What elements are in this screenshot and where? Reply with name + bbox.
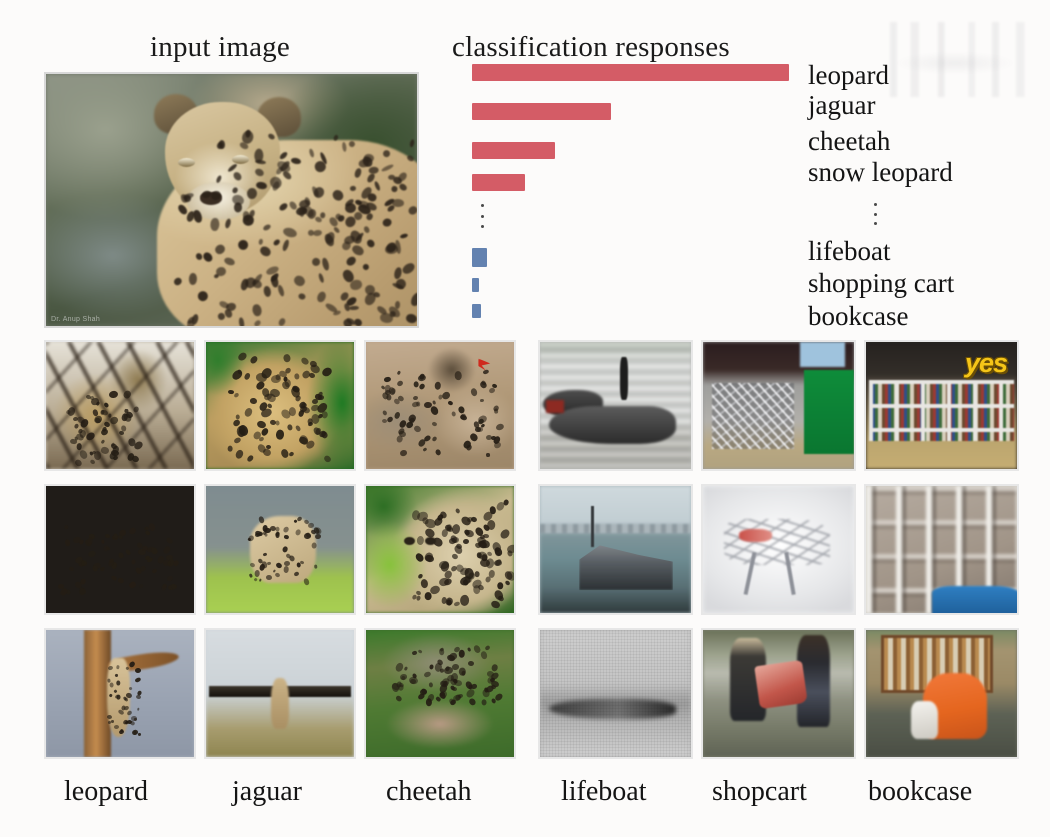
class-label-bookcase: bookcase	[808, 303, 908, 330]
caption-leopard: leopard	[64, 778, 148, 806]
bookshelf-grid	[869, 380, 1014, 441]
grid-cell-left-r1c1	[204, 484, 356, 615]
classification-responses-title: classification responses	[452, 33, 730, 62]
bar-snow-leopard	[472, 174, 525, 191]
class-label-cheetah: cheetah	[808, 128, 890, 155]
figure-root: input image classification responses Dr.…	[0, 0, 1050, 837]
spot-pattern	[46, 486, 194, 613]
white-bag	[911, 701, 938, 739]
grid-cell-right-r0c0	[538, 340, 693, 471]
grid-cell-right-r1c0	[538, 484, 693, 615]
grid-cell-left-r2c0	[44, 628, 196, 759]
bar-bookcase	[472, 304, 481, 318]
input-image-title: input image	[150, 33, 290, 62]
bar-lifeboat	[472, 248, 487, 267]
grid-cell-left-r2c1	[204, 628, 356, 759]
chart-ellipsis-icon	[480, 204, 484, 228]
red-shopping-cart	[755, 660, 809, 709]
spot-pattern	[366, 486, 514, 613]
red-vehicle	[546, 400, 564, 413]
grid-cell-left-r1c2	[364, 484, 516, 615]
spot-pattern	[206, 342, 354, 469]
grid-cell-right-r0c1	[701, 340, 856, 471]
boat-mast	[591, 506, 594, 547]
leopard-on-branch	[271, 678, 289, 729]
yes-overlay-text: yes	[965, 348, 1007, 379]
caption-cheetah: cheetah	[386, 778, 472, 806]
tangled-carts	[712, 383, 794, 449]
class-label-lifeboat: lifeboat	[808, 238, 890, 265]
distant-shoreline	[540, 524, 691, 533]
photo-credit: Dr. Anup Shah	[51, 316, 100, 323]
input-image-photo: Dr. Anup Shah	[44, 72, 419, 328]
grid-cell-left-r0c1	[204, 340, 356, 471]
grid-cell-left-r2c2	[364, 628, 516, 759]
cheetah-eye-right	[425, 537, 436, 545]
class-label-jaguar: jaguar	[808, 92, 875, 119]
sky-patch	[800, 342, 845, 367]
film-grain	[540, 630, 691, 757]
class-label-leopard: leopard	[808, 62, 889, 89]
grid-cell-right-r2c0	[538, 628, 693, 759]
spot-pattern	[46, 342, 194, 469]
blue-sofa	[932, 586, 1019, 615]
grid-cell-right-r0c2: yes	[864, 340, 1019, 471]
cart-red-handle	[739, 529, 772, 542]
green-container	[804, 370, 854, 454]
grid-cell-right-r1c1	[701, 484, 856, 615]
caption-lifeboat: lifeboat	[561, 778, 647, 806]
grid-cell-left-r0c2	[364, 340, 516, 471]
shopping-cart-frame	[724, 519, 830, 565]
bar-shopping-cart	[472, 278, 479, 292]
lifeboat-hull	[549, 406, 676, 444]
class-label-snow-leopard: snow leopard	[808, 159, 953, 186]
spot-pattern	[366, 342, 514, 469]
grid-cell-right-r1c2	[864, 484, 1019, 615]
spot-pattern	[206, 486, 354, 613]
spot-pattern	[366, 630, 514, 757]
class-label-shopping-cart: shopping cart	[808, 270, 954, 297]
caption-shopcart: shopcart	[712, 778, 807, 806]
caption-bookcase: bookcase	[868, 778, 972, 806]
classification-bar-chart	[472, 64, 802, 314]
grid-cell-left-r0c0	[44, 340, 196, 471]
watermark-decoration-2	[895, 52, 1015, 74]
caption-jaguar: jaguar	[232, 778, 302, 806]
bar-cheetah	[472, 142, 555, 159]
bar-leopard	[472, 64, 789, 81]
bar-jaguar	[472, 103, 611, 120]
grid-cell-right-r2c2	[864, 628, 1019, 759]
grid-cell-left-r1c0	[44, 484, 196, 615]
mast	[620, 357, 628, 400]
watermark-decoration	[880, 22, 1050, 97]
leopard-spot-pattern	[46, 74, 417, 326]
spot-pattern	[46, 630, 194, 757]
class-label-ellipsis-icon	[873, 203, 877, 225]
grid-cell-right-r2c1	[701, 628, 856, 759]
